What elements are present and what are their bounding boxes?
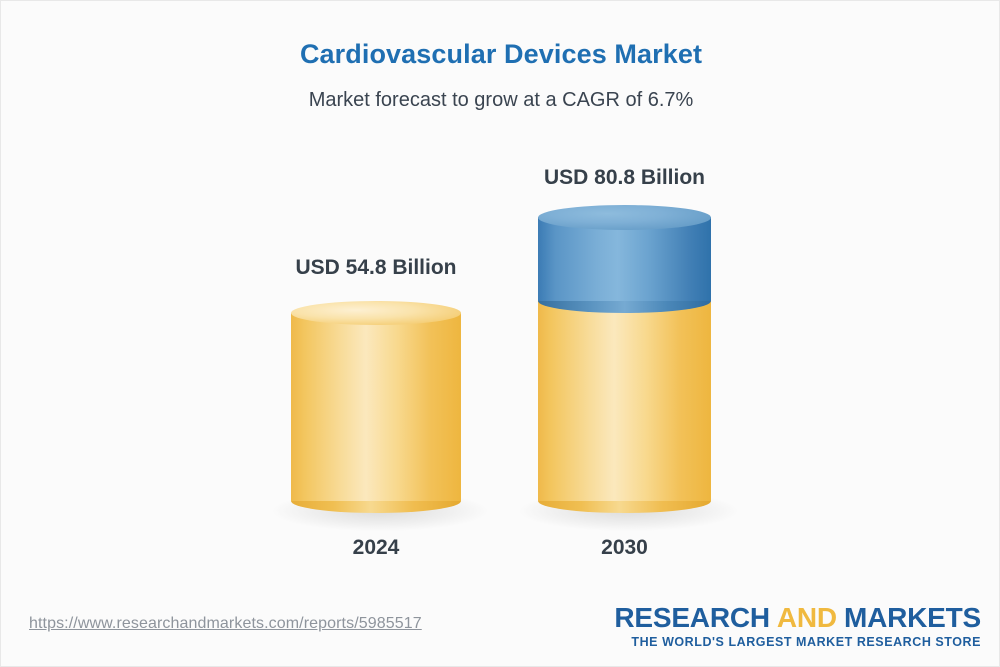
bar-cylinder-2030	[538, 205, 711, 513]
logo-tagline: THE WORLD'S LARGEST MARKET RESEARCH STOR…	[614, 635, 981, 649]
bar-2024-base-top-cap	[291, 301, 461, 325]
bar-category-label-2030: 2030	[538, 536, 711, 560]
bar-value-label-2024: USD 54.8 Billion	[291, 256, 461, 280]
logo-word-and: AND	[770, 602, 844, 633]
chart-footer: https://www.researchandmarkets.com/repor…	[1, 597, 1000, 667]
bar-cylinder-2024	[291, 301, 461, 513]
logo-wordmark: RESEARCHANDMARKETS	[614, 603, 981, 632]
logo-word-research: RESEARCH	[614, 602, 770, 633]
report-url-link[interactable]: https://www.researchandmarkets.com/repor…	[29, 615, 422, 633]
logo-word-markets: MARKETS	[844, 602, 981, 633]
chart-subtitle: Market forecast to grow at a CAGR of 6.7…	[1, 89, 1000, 112]
research-and-markets-logo[interactable]: RESEARCHANDMARKETS THE WORLD'S LARGEST M…	[614, 603, 981, 649]
bar-value-label-2030: USD 80.8 Billion	[538, 166, 711, 190]
bar-2030-growth-top-cap	[538, 205, 711, 230]
bar-category-label-2024: 2024	[291, 536, 461, 560]
chart-card: Cardiovascular Devices Market Market for…	[0, 0, 1000, 667]
chart-plot-area: Cardiovascular Devices Market Market for…	[1, 1, 1000, 601]
chart-title: Cardiovascular Devices Market	[1, 39, 1000, 70]
bar-2024-base-body	[291, 313, 461, 501]
bar-2030-base-body	[538, 301, 711, 501]
